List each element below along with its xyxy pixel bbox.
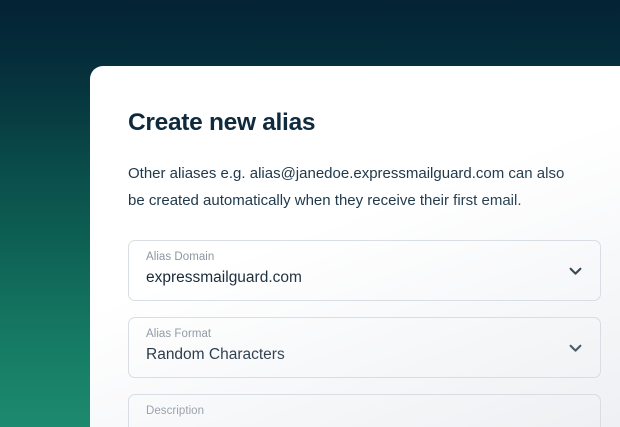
alias-domain-value: expressmailguard.com bbox=[146, 269, 302, 287]
create-alias-dialog: Create new alias Other aliases e.g. alia… bbox=[90, 66, 620, 427]
description-input[interactable]: Description bbox=[128, 394, 601, 427]
description-label: Description bbox=[146, 405, 204, 417]
alias-format-select[interactable]: Alias Format Random Characters bbox=[128, 317, 601, 378]
chevron-down-icon[interactable] bbox=[567, 339, 584, 356]
alias-form: Alias Domain expressmailguard.com Alias … bbox=[128, 214, 601, 427]
chevron-down-icon[interactable] bbox=[567, 262, 584, 279]
dialog-content: Create new alias Other aliases e.g. alia… bbox=[128, 66, 601, 427]
alias-domain-select[interactable]: Alias Domain expressmailguard.com bbox=[128, 240, 601, 301]
app-screen: Create new alias Other aliases e.g. alia… bbox=[0, 0, 620, 427]
page-title: Create new alias bbox=[128, 66, 601, 137]
alias-format-value: Random Characters bbox=[146, 346, 285, 364]
alias-format-label: Alias Format bbox=[146, 328, 211, 340]
dialog-description: Other aliases e.g. alias@janedoe.express… bbox=[128, 137, 580, 214]
alias-domain-label: Alias Domain bbox=[146, 251, 214, 263]
